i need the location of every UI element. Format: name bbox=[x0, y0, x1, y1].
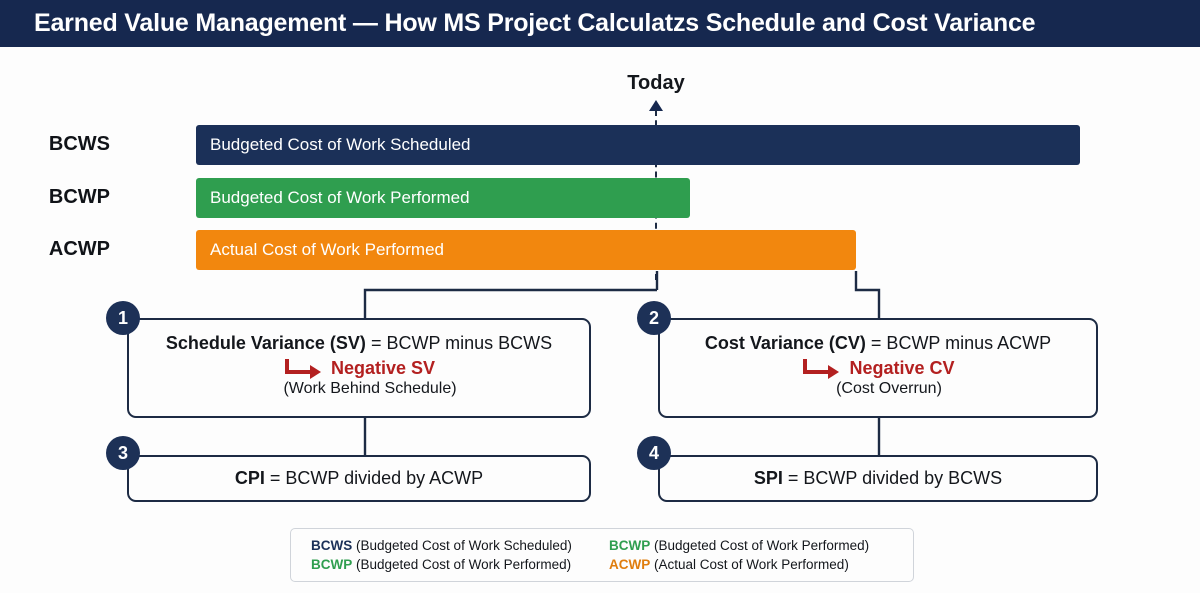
card-4-term: SPI bbox=[754, 468, 783, 488]
card-spi[interactable]: SPI = BCWP divided by BCWS bbox=[658, 455, 1098, 502]
bar-label-bcws: BCWS bbox=[20, 133, 110, 156]
legend-item: BCWS (Budgeted Cost of Work Scheduled) bbox=[311, 536, 599, 555]
bar-label-bcwp: BCWP bbox=[20, 186, 110, 209]
card-1-heading: Schedule Variance (SV) = BCWP minus BCWS bbox=[129, 333, 589, 354]
card-schedule-variance[interactable]: Schedule Variance (SV) = BCWP minus BCWS… bbox=[127, 318, 591, 418]
diagram-canvas: Earned Value Management — How MS Project… bbox=[0, 0, 1200, 593]
card-cpi[interactable]: CPI = BCWP divided by ACWP bbox=[127, 455, 591, 502]
card-1-note: (Work Behind Schedule) bbox=[151, 380, 589, 398]
card-2-term: Cost Variance (CV) bbox=[705, 333, 866, 353]
legend-box: BCWS (Budgeted Cost of Work Scheduled) B… bbox=[290, 528, 914, 582]
badge-1: 1 bbox=[106, 301, 140, 335]
legend-desc: (Budgeted Cost of Work Performed) bbox=[650, 538, 869, 553]
bar-label-acwp: ACWP bbox=[20, 238, 110, 261]
legend-code: BCWS bbox=[311, 538, 352, 553]
card-1-result-row: Negative SV bbox=[129, 358, 589, 379]
card-4-heading: SPI = BCWP divided by BCWS bbox=[660, 457, 1096, 500]
card-4-formula: = BCWP divided by BCWS bbox=[783, 468, 1002, 488]
card-1-term: Schedule Variance (SV) bbox=[166, 333, 366, 353]
bar-bcwp: Budgeted Cost of Work Performed bbox=[196, 178, 690, 218]
badge-2: 2 bbox=[637, 301, 671, 335]
legend-item: ACWP (Actual Cost of Work Performed) bbox=[609, 555, 897, 574]
card-2-result-row: Negative CV bbox=[660, 358, 1096, 379]
card-1-formula: = BCWP minus BCWS bbox=[366, 333, 552, 353]
arrow-elbow-icon bbox=[283, 359, 325, 379]
card-2-note: (Cost Overrun) bbox=[682, 380, 1096, 398]
legend-code: ACWP bbox=[609, 557, 650, 572]
legend-code: BCWP bbox=[311, 557, 352, 572]
card-2-formula: = BCWP minus ACWP bbox=[866, 333, 1051, 353]
card-2-result: Negative CV bbox=[849, 358, 954, 379]
bar-bcws: Budgeted Cost of Work Scheduled bbox=[196, 125, 1080, 165]
title-bar: Earned Value Management — How MS Project… bbox=[0, 0, 1200, 47]
page-title: Earned Value Management — How MS Project… bbox=[0, 9, 1035, 38]
arrow-elbow-icon bbox=[801, 359, 843, 379]
card-1-result: Negative SV bbox=[331, 358, 435, 379]
legend-desc: (Budgeted Cost of Work Performed) bbox=[352, 557, 571, 572]
card-cost-variance[interactable]: Cost Variance (CV) = BCWP minus ACWP Neg… bbox=[658, 318, 1098, 418]
bar-acwp: Actual Cost of Work Performed bbox=[196, 230, 856, 270]
legend-item: BCWP (Budgeted Cost of Work Performed) bbox=[609, 536, 897, 555]
card-2-heading: Cost Variance (CV) = BCWP minus ACWP bbox=[660, 333, 1096, 354]
legend-desc: (Actual Cost of Work Performed) bbox=[650, 557, 849, 572]
badge-3: 3 bbox=[106, 436, 140, 470]
card-3-formula: = BCWP divided by ACWP bbox=[265, 468, 483, 488]
card-3-heading: CPI = BCWP divided by ACWP bbox=[129, 457, 589, 500]
badge-4: 4 bbox=[637, 436, 671, 470]
card-3-term: CPI bbox=[235, 468, 265, 488]
legend-item: BCWP (Budgeted Cost of Work Performed) bbox=[311, 555, 599, 574]
legend-desc: (Budgeted Cost of Work Scheduled) bbox=[352, 538, 572, 553]
legend-code: BCWP bbox=[609, 538, 650, 553]
today-label: Today bbox=[596, 72, 716, 95]
